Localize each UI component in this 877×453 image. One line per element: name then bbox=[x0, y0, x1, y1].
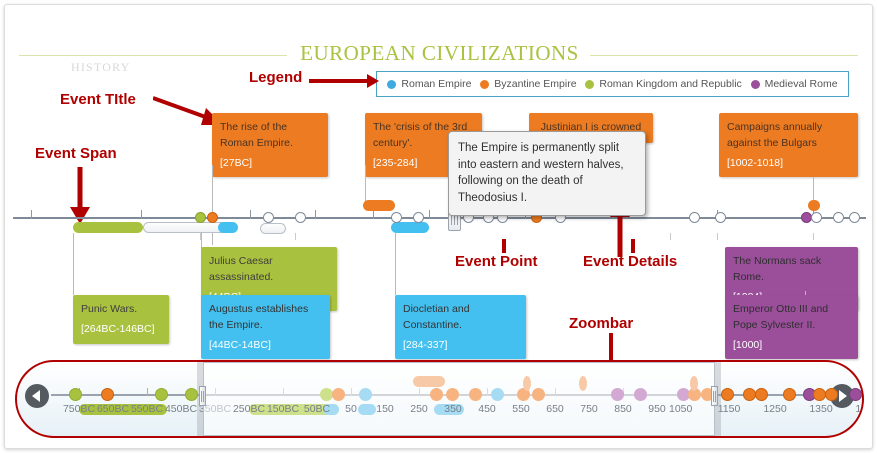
event-card-date: [1000] bbox=[733, 338, 850, 354]
handle-line bbox=[713, 391, 714, 402]
event-span-bar[interactable] bbox=[363, 200, 395, 211]
event-card-title: Augustus establishes the Empire. bbox=[209, 303, 308, 331]
event-card-leader bbox=[73, 233, 74, 295]
legend-item-roman-kingdom-and-republic[interactable]: Roman Kingdom and Republic bbox=[585, 78, 741, 90]
event-card[interactable]: Campaigns annually against the Bulgars [… bbox=[719, 113, 858, 177]
zoombar-event-point[interactable] bbox=[849, 388, 862, 401]
zoombar-tick-label: 550 bbox=[512, 403, 530, 415]
zoombar-tick-label: 450BC bbox=[165, 403, 197, 415]
zoombar-event-point[interactable] bbox=[783, 388, 796, 401]
zoombar-tick-label: 950 bbox=[648, 403, 666, 415]
zoombar-tick-label: 750BC bbox=[63, 403, 95, 415]
annotation-arrow-event-point-stem bbox=[501, 239, 507, 253]
event-card-date: [264BC-146BC] bbox=[81, 322, 161, 338]
event-point[interactable] bbox=[849, 212, 860, 223]
annotation-event-span: Event Span bbox=[35, 145, 117, 162]
event-card[interactable]: Punic Wars. [264BC-146BC] bbox=[73, 295, 169, 344]
zoombar-left-handle[interactable] bbox=[199, 386, 206, 406]
zoombar-tick-label: 250 bbox=[410, 403, 428, 415]
axis-minor-tick bbox=[670, 233, 671, 240]
axis-tick bbox=[141, 210, 142, 219]
event-point[interactable] bbox=[207, 212, 218, 223]
watermark-label: HISTORY bbox=[71, 60, 131, 75]
zoombar-prev-button[interactable] bbox=[25, 384, 49, 408]
legend-item-label: Roman Kingdom and Republic bbox=[599, 78, 741, 90]
handle-line bbox=[203, 391, 204, 402]
event-card-leader bbox=[395, 233, 396, 295]
legend-dot-icon bbox=[387, 80, 396, 89]
event-point[interactable] bbox=[391, 212, 402, 223]
event-point[interactable] bbox=[413, 212, 424, 223]
legend-dot-icon bbox=[585, 80, 594, 89]
event-card-date: [27BC] bbox=[220, 156, 320, 172]
zoombar[interactable]: 750BC 650BC 550BC 450BC 350BC 250BC 150B… bbox=[15, 360, 864, 438]
axis-tick bbox=[31, 210, 32, 219]
zoombar-tick-label: 650BC bbox=[97, 403, 129, 415]
event-card-title: Campaigns annually against the Bulgars bbox=[727, 121, 822, 149]
event-card[interactable]: Augustus establishes the Empire. [44BC-1… bbox=[201, 295, 330, 359]
zoombar-tick-label: 150BC bbox=[267, 403, 299, 415]
zoombar-tick-label: 1050 bbox=[669, 403, 713, 415]
event-point[interactable] bbox=[833, 212, 844, 223]
event-card-title: The rise of the Roman Empire. bbox=[220, 121, 293, 149]
chevron-left-icon bbox=[32, 390, 40, 402]
event-point[interactable] bbox=[689, 212, 700, 223]
zoombar-selection-window[interactable] bbox=[203, 362, 715, 436]
annotation-arrow-zoombar bbox=[608, 333, 614, 363]
zoombar-tick-label: 350 bbox=[444, 403, 462, 415]
zoombar-event-point[interactable] bbox=[69, 388, 82, 401]
annotation-event-title: Event TItle bbox=[60, 91, 136, 108]
event-span-bar[interactable] bbox=[218, 222, 238, 233]
event-card[interactable]: Emperor Otto III and Pope Sylvester II. … bbox=[725, 295, 858, 359]
event-card-title: Punic Wars. bbox=[81, 303, 137, 315]
chevron-right-icon bbox=[839, 390, 847, 402]
zoombar-event-point[interactable] bbox=[101, 388, 114, 401]
zoombar-tick-label: 1450 bbox=[855, 403, 864, 415]
timeline-widget: EUROPEAN CIVILIZATIONS HISTORY Roman Emp… bbox=[4, 4, 873, 449]
event-span-bar[interactable] bbox=[391, 222, 429, 233]
legend-item-label: Medieval Rome bbox=[765, 78, 838, 90]
axis-minor-tick bbox=[717, 233, 718, 240]
legend-item-byzantine-empire[interactable]: Byzantine Empire bbox=[480, 78, 576, 90]
event-card-date: [284-337] bbox=[403, 338, 518, 354]
legend-dot-icon bbox=[480, 80, 489, 89]
annotation-event-point: Event Point bbox=[455, 253, 538, 270]
zoombar-tick-label: 450 bbox=[478, 403, 496, 415]
event-span-bar[interactable] bbox=[808, 200, 820, 211]
zoombar-event-point[interactable] bbox=[755, 388, 768, 401]
event-span-bar[interactable] bbox=[73, 222, 143, 233]
zoombar-tick-label: 1250 bbox=[763, 403, 786, 415]
axis-tick bbox=[250, 210, 251, 219]
zoombar-tick-label: 250BC bbox=[233, 403, 265, 415]
event-details-tooltip[interactable]: The Empire is permanently split into eas… bbox=[448, 131, 646, 216]
legend: Roman Empire Byzantine Empire Roman King… bbox=[376, 71, 849, 97]
event-card-date: [1002-1018] bbox=[727, 156, 850, 172]
legend-dot-icon bbox=[751, 80, 760, 89]
event-card[interactable]: Diocletian and Constantine. [284-337] bbox=[395, 295, 526, 359]
event-card-title: Emperor Otto III and Pope Sylvester II. bbox=[733, 303, 828, 331]
axis-tick bbox=[315, 210, 316, 219]
legend-item-label: Byzantine Empire bbox=[494, 78, 576, 90]
main-timeline[interactable] bbox=[5, 195, 873, 245]
handle-line bbox=[201, 391, 202, 402]
event-card-title: Julius Caesar assassinated. bbox=[209, 255, 273, 283]
legend-item-label: Roman Empire bbox=[401, 78, 471, 90]
annotation-legend: Legend bbox=[249, 69, 302, 86]
event-point[interactable] bbox=[195, 212, 206, 223]
event-card-date: [44BC-14BC] bbox=[209, 338, 322, 354]
event-card[interactable]: The rise of the Roman Empire. [27BC] bbox=[212, 113, 328, 177]
zoombar-event-point[interactable] bbox=[185, 388, 198, 401]
zoombar-tick-label: 650 bbox=[546, 403, 564, 415]
zoombar-tick-label: 150 bbox=[376, 403, 394, 415]
zoombar-event-point[interactable] bbox=[721, 388, 734, 401]
event-card-title: The Normans sack Rome. bbox=[733, 255, 821, 283]
zoombar-tick-label: 1350 bbox=[809, 403, 832, 415]
legend-item-medieval-rome[interactable]: Medieval Rome bbox=[751, 78, 838, 90]
handle-line bbox=[715, 391, 716, 402]
zoombar-tick bbox=[147, 388, 148, 396]
axis-minor-tick bbox=[813, 233, 814, 240]
event-span-bar[interactable] bbox=[260, 223, 286, 234]
legend-item-roman-empire[interactable]: Roman Empire bbox=[387, 78, 471, 90]
zoombar-tick-label: 550BC bbox=[131, 403, 163, 415]
axis-tick bbox=[429, 210, 430, 219]
zoombar-tick-label: 50BC bbox=[304, 403, 330, 415]
page-title-row: EUROPEAN CIVILIZATIONS bbox=[5, 41, 873, 67]
event-point[interactable] bbox=[295, 212, 306, 223]
annotation-zoombar: Zoombar bbox=[569, 315, 633, 332]
zoombar-tick-label: 50 bbox=[345, 403, 357, 415]
event-point[interactable] bbox=[811, 212, 822, 223]
axis-minor-tick bbox=[295, 233, 296, 240]
event-point[interactable] bbox=[263, 212, 274, 223]
zoombar-event-point[interactable] bbox=[825, 388, 838, 401]
axis-tick bbox=[373, 210, 374, 219]
event-point[interactable] bbox=[715, 212, 726, 223]
annotation-event-details: Event Details bbox=[583, 253, 677, 270]
event-card-title: Diocletian and Constantine. bbox=[403, 303, 470, 331]
annotation-arrow-event-details-stem bbox=[630, 239, 636, 253]
page-title: EUROPEAN CIVILIZATIONS bbox=[290, 41, 589, 66]
zoombar-event-point[interactable] bbox=[155, 388, 168, 401]
zoombar-tick-label: 850 bbox=[614, 403, 632, 415]
annotation-arrow-legend bbox=[309, 73, 379, 89]
zoombar-tick-label: 1150 bbox=[718, 403, 741, 415]
zoombar-tick-label: 750 bbox=[580, 403, 598, 415]
